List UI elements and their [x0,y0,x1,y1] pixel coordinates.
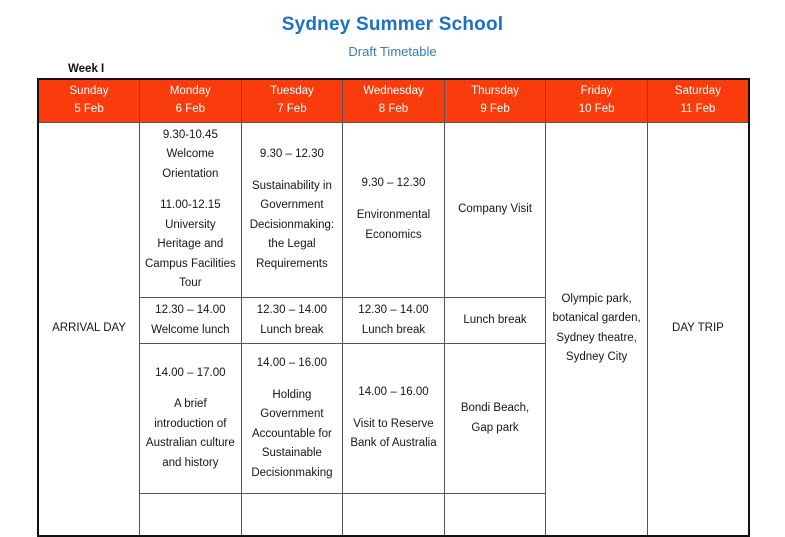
cell-tuesday-morning: 9.30 – 12.30 Sustainability in Governmen… [241,122,343,297]
cell-saturday-daytrip: DAY TRIP [647,122,749,536]
header-dayname: Friday [550,83,643,101]
cell-wednesday-morning: 9.30 – 12.30 Environmental Economics [343,122,445,297]
monday-lunch-time: 12.30 – 14.00 [144,301,237,321]
tuesday-afternoon-desc: Holding Government Accountable for Susta… [246,386,339,484]
header-dayname: Tuesday [246,83,339,101]
cell-monday-lunch: 12.30 – 14.00 Welcome lunch [140,298,242,344]
tuesday-lunch-desc: Lunch break [246,321,339,341]
cell-monday-empty [140,494,242,537]
header-dayname: Monday [144,83,237,101]
cell-tuesday-empty [241,494,343,537]
cell-wednesday-lunch: 12.30 – 14.00 Lunch break [343,298,445,344]
wednesday-morning-desc: Environmental Economics [347,206,440,245]
cell-monday-morning: 9.30-10.45 Welcome Orientation 11.00-12.… [140,122,242,297]
cell-thursday-empty [444,494,546,537]
header-daydate: 5 Feb [43,101,135,119]
cell-wednesday-empty [343,494,445,537]
wednesday-lunch-time: 12.30 – 14.00 [347,301,440,321]
header-daydate: 10 Feb [550,101,643,119]
column-header-saturday: Saturday 11 Feb [647,79,749,122]
wednesday-afternoon-desc: Visit to Reserve Bank of Australia [347,415,440,454]
wednesday-afternoon-time: 14.00 – 16.00 [347,383,440,403]
header-daydate: 11 Feb [652,101,744,119]
cell-thursday-lunch: Lunch break [444,298,546,344]
cell-thursday-afternoon: Bondi Beach, Gap park [444,344,546,494]
monday-lunch-desc: Welcome lunch [144,321,237,341]
cell-sunday-arrival: ARRIVAL DAY [38,122,140,536]
tuesday-morning-desc: Sustainability in Government Decisionmak… [246,177,339,275]
timetable-body: ARRIVAL DAY 9.30-10.45 Welcome Orientati… [38,122,749,536]
spacer [246,374,339,386]
monday-afternoon-time: 14.00 – 17.00 [144,364,237,384]
cell-tuesday-afternoon: 14.00 – 16.00 Holding Government Account… [241,344,343,494]
cell-wednesday-afternoon: 14.00 – 16.00 Visit to Reserve Bank of A… [343,344,445,494]
timetable-header: Sunday 5 Feb Monday 6 Feb Tuesday 7 Feb … [38,79,749,122]
cell-friday-allday: Olympic park, botanical garden, Sydney t… [546,122,648,536]
tuesday-morning-time: 9.30 – 12.30 [246,145,339,165]
spacer [144,184,237,196]
tuesday-afternoon-time: 14.00 – 16.00 [246,354,339,374]
timetable-container: Sunday 5 Feb Monday 6 Feb Tuesday 7 Feb … [37,78,750,537]
monday-morning-desc-2: University Heritage and Campus Facilitie… [144,216,237,294]
spacer [347,194,440,206]
column-header-tuesday: Tuesday 7 Feb [241,79,343,122]
week-label: Week I [68,63,104,75]
header-daydate: 8 Feb [347,101,440,119]
column-header-friday: Friday 10 Feb [546,79,648,122]
wednesday-morning-time: 9.30 – 12.30 [347,174,440,194]
header-row: Sunday 5 Feb Monday 6 Feb Tuesday 7 Feb … [38,79,749,122]
header-dayname: Sunday [43,83,135,101]
header-daydate: 9 Feb [449,101,542,119]
column-header-monday: Monday 6 Feb [140,79,242,122]
monday-afternoon-desc: A brief introduction of Australian cultu… [144,395,237,473]
cell-tuesday-lunch: 12.30 – 14.00 Lunch break [241,298,343,344]
spacer [347,403,440,415]
header-daydate: 7 Feb [246,101,339,119]
header-dayname: Wednesday [347,83,440,101]
column-header-sunday: Sunday 5 Feb [38,79,140,122]
monday-morning-time-2: 11.00-12.15 [144,196,237,216]
header-daydate: 6 Feb [144,101,237,119]
table-row-morning: ARRIVAL DAY 9.30-10.45 Welcome Orientati… [38,122,749,297]
page-subtitle: Draft Timetable [0,45,785,59]
page-title: Sydney Summer School [0,15,785,36]
timetable: Sunday 5 Feb Monday 6 Feb Tuesday 7 Feb … [37,78,750,537]
monday-morning-time-1: 9.30-10.45 [144,126,237,146]
header-dayname: Thursday [449,83,542,101]
column-header-wednesday: Wednesday 8 Feb [343,79,445,122]
page-title-block: Sydney Summer School Draft Timetable [0,0,785,59]
cell-monday-afternoon: 14.00 – 17.00 A brief introduction of Au… [140,344,242,494]
header-dayname: Saturday [652,83,744,101]
cell-thursday-morning: Company Visit [444,122,546,297]
spacer [246,165,339,177]
tuesday-lunch-time: 12.30 – 14.00 [246,301,339,321]
wednesday-lunch-desc: Lunch break [347,321,440,341]
column-header-thursday: Thursday 9 Feb [444,79,546,122]
monday-morning-desc-1: Welcome Orientation [144,145,237,184]
spacer [144,383,237,395]
